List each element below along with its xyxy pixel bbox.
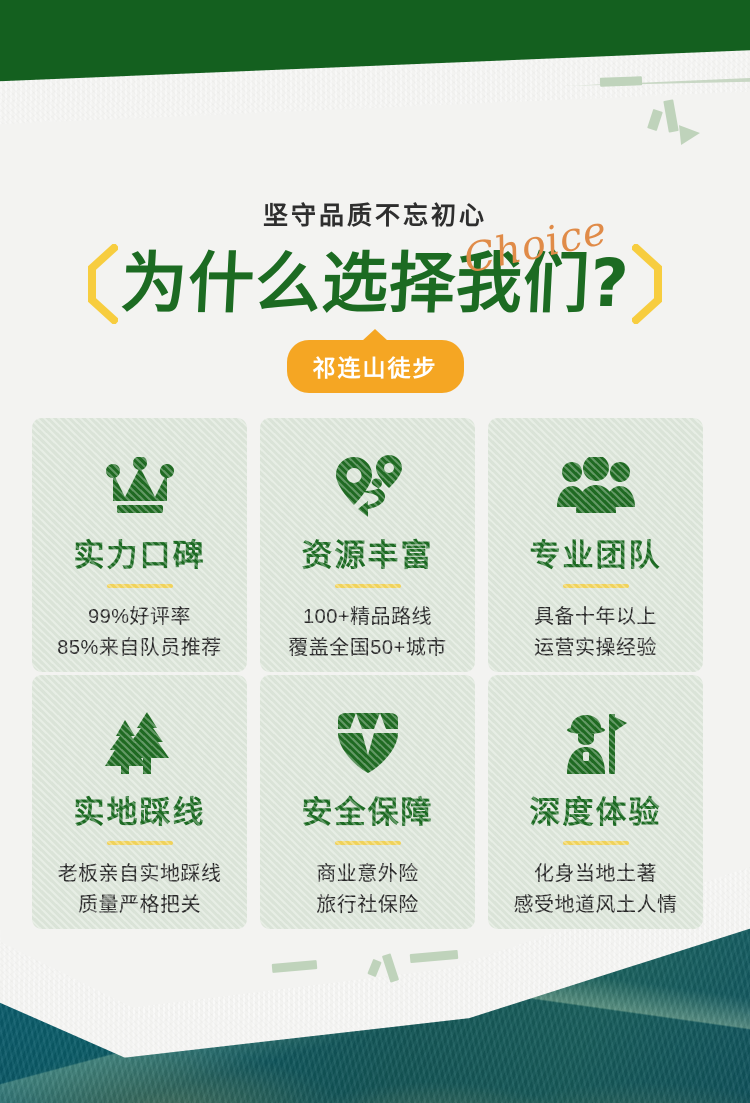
card-line: 运营实操经验 — [488, 633, 703, 664]
tick-decoration-icon — [663, 99, 678, 132]
title-underline — [563, 841, 629, 845]
card-title: 专业团队 — [488, 530, 703, 575]
pine-trees-icon — [32, 707, 247, 779]
poster-subtitle: 坚守品质不忘初心 — [0, 196, 750, 232]
title-underline — [335, 841, 401, 845]
poster-content: 坚守品质不忘初心 为什么选择我们? Choice 祁连山徒步 — [0, 0, 750, 1103]
feature-card[interactable]: 实力口碑 99%好评率 85%来自队员推荐 — [32, 418, 247, 672]
card-title: 资源丰富 — [260, 530, 475, 575]
guide-flag-icon — [488, 707, 703, 779]
card-line: 感受地道风土人情 — [488, 890, 703, 921]
card-line: 老板亲自实地踩线 — [32, 859, 247, 890]
dash-decoration-icon — [600, 76, 642, 86]
feature-card[interactable]: 安全保障 商业意外险 旅行社保险 — [260, 675, 475, 929]
tick-decoration-icon — [647, 109, 663, 131]
status-badge: 祁连山徒步 — [287, 340, 464, 393]
card-lines: 具备十年以上 运营实操经验 — [488, 602, 703, 664]
card-line: 100+精品路线 — [260, 602, 475, 633]
card-title: 实地踩线 — [32, 787, 247, 832]
card-title: 安全保障 — [260, 787, 475, 832]
title-underline — [335, 584, 401, 588]
card-lines: 老板亲自实地踩线 质量严格把关 — [32, 859, 247, 921]
card-lines: 化身当地土著 感受地道风土人情 — [488, 859, 703, 921]
feature-card[interactable]: 专业团队 具备十年以上 运营实操经验 — [488, 418, 703, 672]
card-line: 85%来自队员推荐 — [32, 633, 247, 664]
title-underline — [563, 584, 629, 588]
card-line: 质量严格把关 — [32, 890, 247, 921]
card-line: 化身当地土著 — [488, 859, 703, 890]
card-line: 商业意外险 — [260, 859, 475, 890]
poster-root: 坚守品质不忘初心 为什么选择我们? Choice 祁连山徒步 — [0, 0, 750, 1103]
tick-decoration-icon — [382, 953, 399, 982]
map-pin-route-icon — [260, 450, 475, 522]
triangle-decoration-icon — [679, 123, 701, 145]
card-title: 深度体验 — [488, 787, 703, 832]
dash-decoration-icon — [272, 960, 318, 973]
card-line: 覆盖全国50+城市 — [260, 633, 475, 664]
card-line: 具备十年以上 — [488, 602, 703, 633]
feature-card[interactable]: 实地踩线 老板亲自实地踩线 质量严格把关 — [32, 675, 247, 929]
feature-card[interactable]: 资源丰富 100+精品路线 覆盖全国50+城市 — [260, 418, 475, 672]
card-title: 实力口碑 — [32, 530, 247, 575]
card-lines: 99%好评率 85%来自队员推荐 — [32, 602, 247, 664]
dash-decoration-icon — [410, 950, 459, 963]
title-underline — [107, 841, 173, 845]
title-underline — [107, 584, 173, 588]
poster-title-wrap: 为什么选择我们? — [0, 236, 750, 332]
card-lines: 100+精品路线 覆盖全国50+城市 — [260, 602, 475, 664]
team-people-icon — [488, 450, 703, 522]
crown-icon — [32, 450, 247, 522]
feature-card[interactable]: 深度体验 化身当地土著 感受地道风土人情 — [488, 675, 703, 929]
card-line: 旅行社保险 — [260, 890, 475, 921]
diamond-icon — [260, 707, 475, 779]
card-lines: 商业意外险 旅行社保险 — [260, 859, 475, 921]
badge-wrap: 祁连山徒步 — [0, 340, 750, 393]
card-line: 99%好评率 — [32, 602, 247, 633]
feature-card-grid: 实力口碑 99%好评率 85%来自队员推荐 资源丰富 — [32, 418, 722, 929]
tick-decoration-icon — [367, 959, 381, 977]
